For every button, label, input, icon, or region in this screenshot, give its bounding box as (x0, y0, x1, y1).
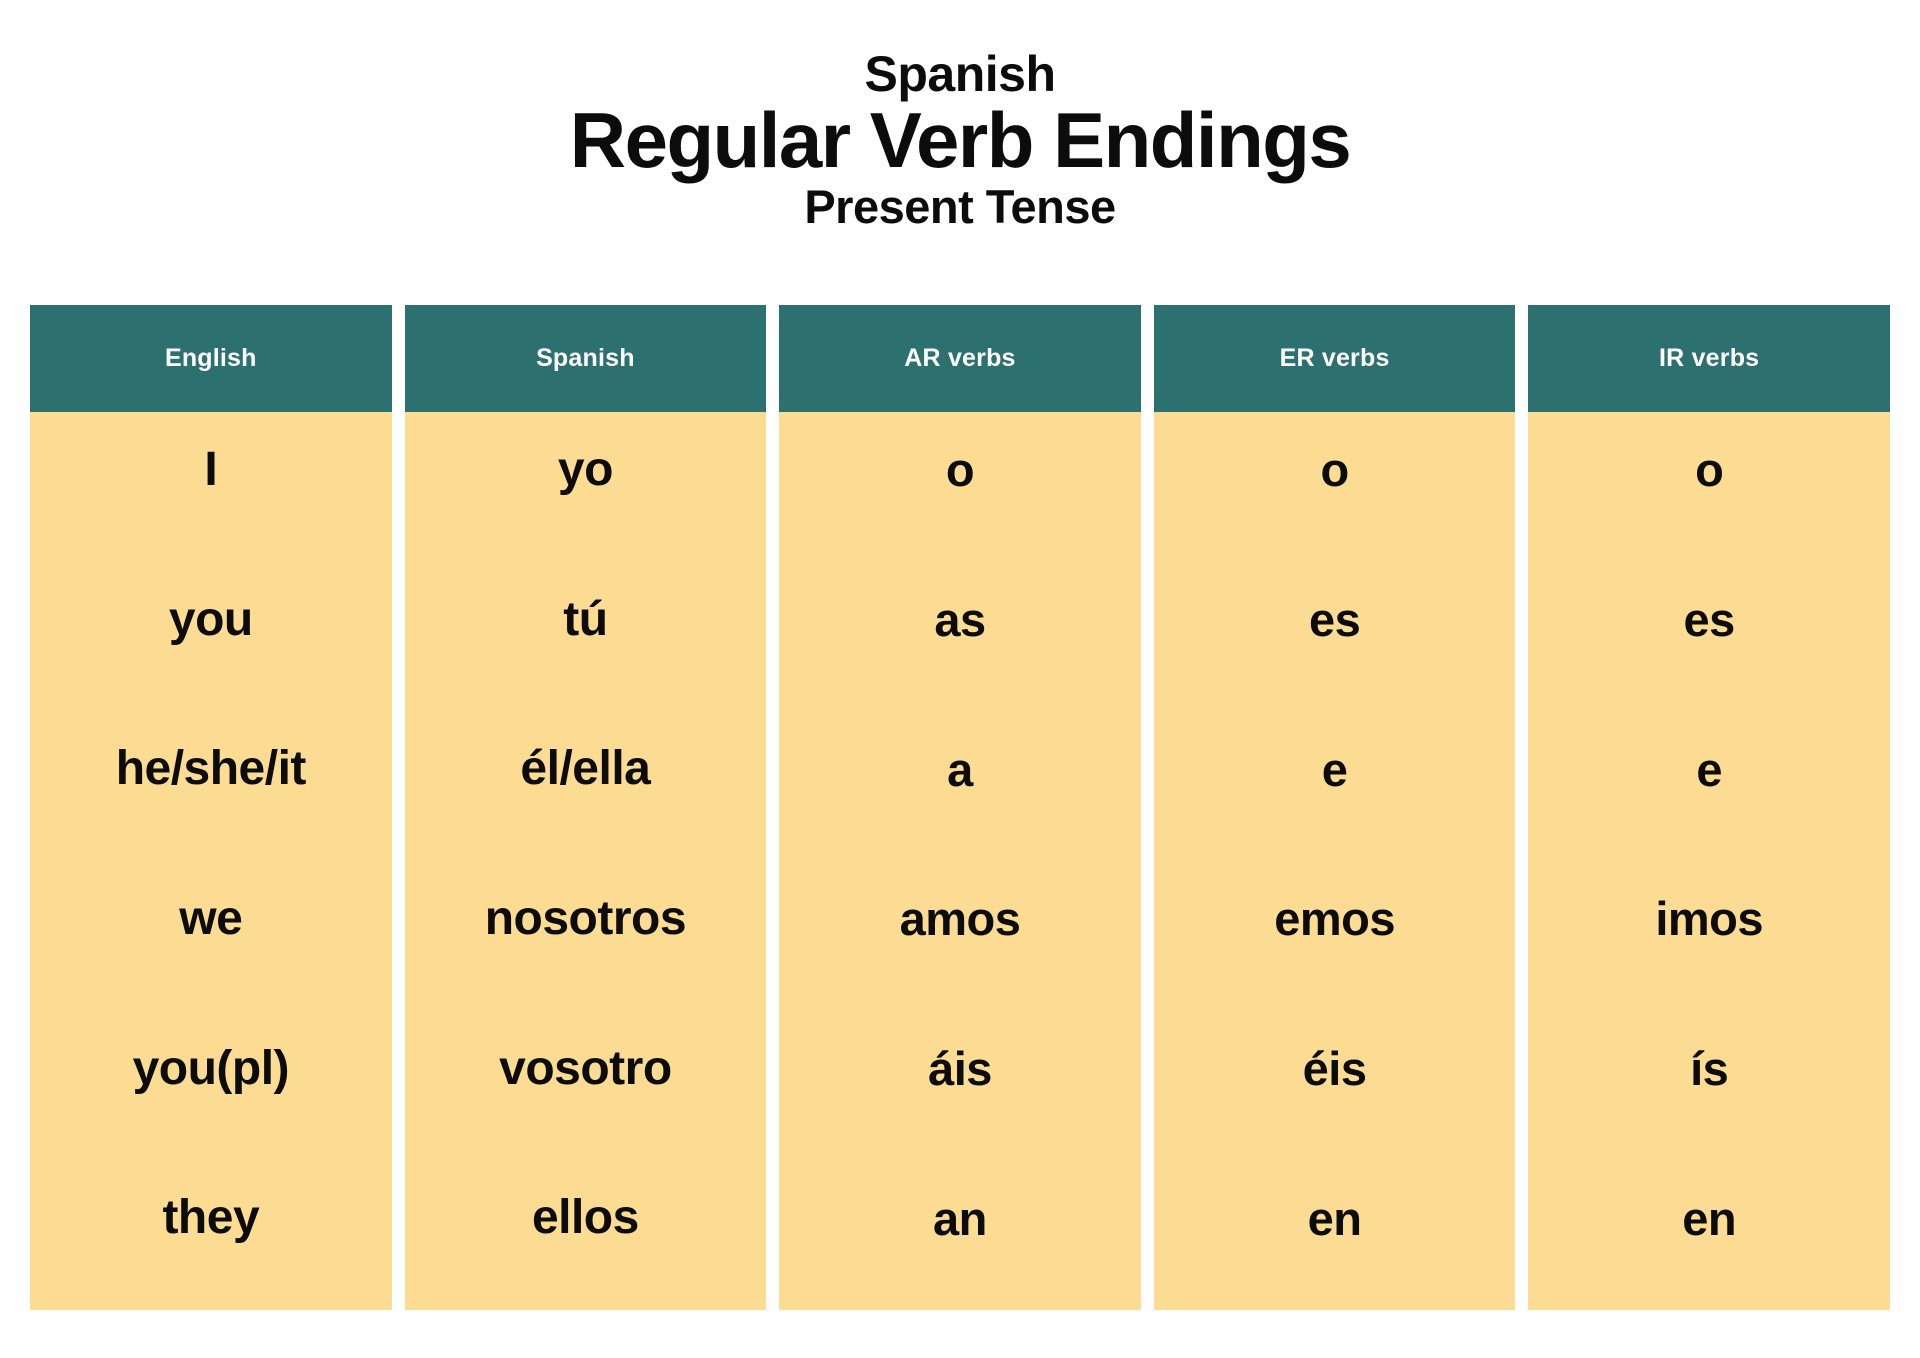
column-header-ir-verbs: IR verbs (1528, 305, 1890, 412)
table-cell: a (779, 711, 1141, 861)
table-cell: él/ella (405, 711, 767, 861)
column-header-spanish: Spanish (405, 305, 767, 412)
column-body-ir-verbs: o es e imos ís en (1528, 412, 1890, 1310)
table-cell: en (1528, 1160, 1890, 1310)
table-cell: ellos (405, 1160, 767, 1310)
table-cell: e (1154, 711, 1516, 861)
table-cell: you(pl) (30, 1011, 392, 1161)
table-column-er-verbs: ER verbs o es e emos éis en (1154, 305, 1516, 1310)
page-subtitle: Present Tense (0, 180, 1920, 234)
title-block: Spanish Regular Verb Endings Present Ten… (0, 46, 1920, 234)
column-header-er-verbs: ER verbs (1154, 305, 1516, 412)
table-cell: an (779, 1160, 1141, 1310)
table-cell: vosotro (405, 1011, 767, 1161)
column-body-er-verbs: o es e emos éis en (1154, 412, 1516, 1310)
table-cell: emos (1154, 861, 1516, 1011)
verb-endings-table: English I you he/she/it we you(pl) they … (30, 305, 1890, 1310)
table-cell: tú (405, 562, 767, 712)
table-column-ir-verbs: IR verbs o es e imos ís en (1528, 305, 1890, 1310)
table-cell: I (30, 412, 392, 562)
table-cell: en (1154, 1160, 1516, 1310)
table-column-ar-verbs: AR verbs o as a amos áis an (779, 305, 1141, 1310)
table-cell: we (30, 861, 392, 1011)
table-cell: they (30, 1160, 392, 1310)
table-column-spanish: Spanish yo tú él/ella nosotros vosotro e… (405, 305, 767, 1310)
table-cell: o (779, 412, 1141, 562)
page-title: Regular Verb Endings (0, 98, 1920, 182)
column-body-spanish: yo tú él/ella nosotros vosotro ellos (405, 412, 767, 1310)
table-column-english: English I you he/she/it we you(pl) they (30, 305, 392, 1310)
table-cell: o (1528, 412, 1890, 562)
table-cell: you (30, 562, 392, 712)
table-cell: áis (779, 1011, 1141, 1161)
table-cell: ís (1528, 1011, 1890, 1161)
table-cell: as (779, 562, 1141, 712)
table-cell: he/she/it (30, 711, 392, 861)
table-cell: yo (405, 412, 767, 562)
table-cell: o (1154, 412, 1516, 562)
table-cell: imos (1528, 861, 1890, 1011)
table-cell: nosotros (405, 861, 767, 1011)
table-cell: es (1528, 562, 1890, 712)
column-header-ar-verbs: AR verbs (779, 305, 1141, 412)
column-body-english: I you he/she/it we you(pl) they (30, 412, 392, 1310)
column-header-english: English (30, 305, 392, 412)
table-cell: éis (1154, 1011, 1516, 1161)
column-body-ar-verbs: o as a amos áis an (779, 412, 1141, 1310)
eyebrow-title: Spanish (0, 46, 1920, 102)
table-cell: e (1528, 711, 1890, 861)
table-cell: amos (779, 861, 1141, 1011)
table-cell: es (1154, 562, 1516, 712)
